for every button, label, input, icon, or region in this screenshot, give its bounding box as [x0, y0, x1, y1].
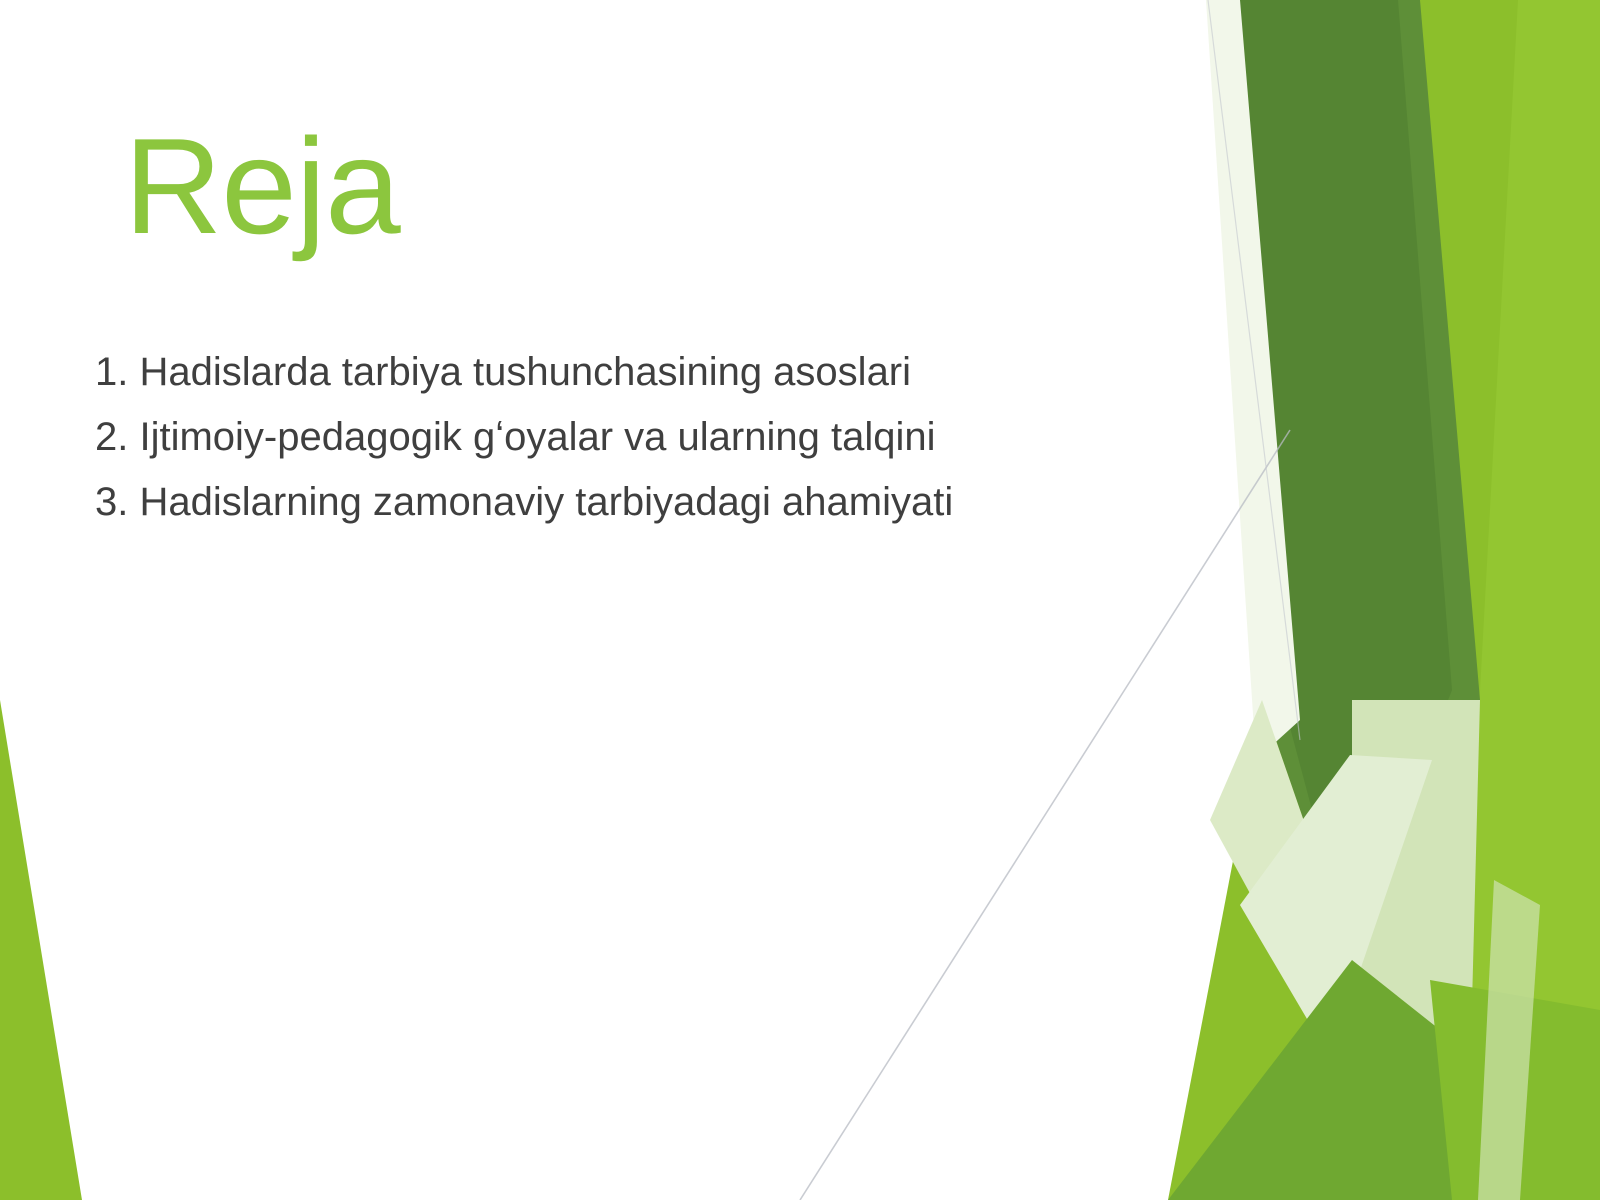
list-item: 2. Ijtimoiy-pedagogik gʻoyalar va ularni…: [95, 405, 1145, 470]
slide-title: Reja: [124, 118, 400, 254]
list-item: 3. Hadislarning zamonaviy tarbiyadagi ah…: [95, 470, 1145, 535]
slide-content: Reja 1. Hadislarda tarbiya tushunchasini…: [0, 0, 1600, 1200]
agenda-list: 1. Hadislarda tarbiya tushunchasining as…: [95, 340, 1145, 535]
list-item: 1. Hadislarda tarbiya tushunchasining as…: [95, 340, 1145, 405]
presentation-slide: Reja 1. Hadislarda tarbiya tushunchasini…: [0, 0, 1600, 1200]
